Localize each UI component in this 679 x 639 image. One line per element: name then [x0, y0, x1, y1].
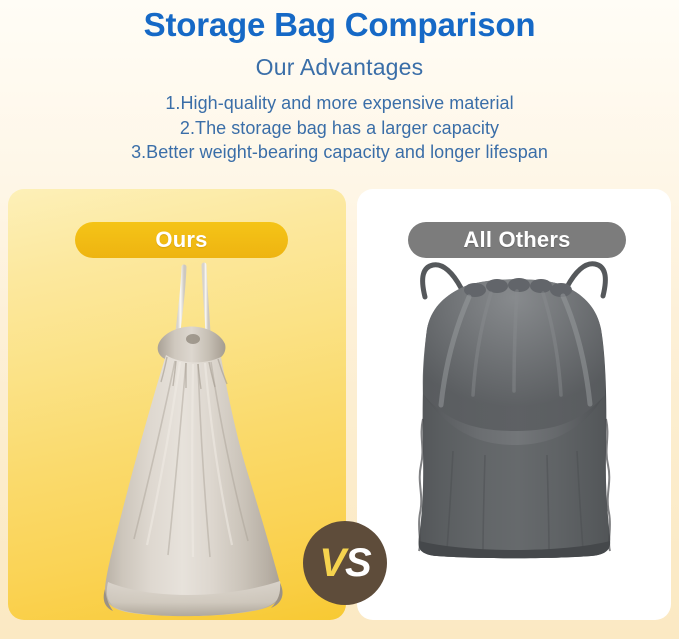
badge-ours[interactable]: Ours — [75, 222, 288, 258]
panel-all-others: All Others — [357, 189, 671, 620]
comparison-section: Ours DOREMI — [0, 189, 679, 623]
page-title: Storage Bag Comparison — [0, 2, 679, 45]
advantages-list: 1.High-quality and more expensive materi… — [0, 82, 679, 165]
vs-badge: VS — [303, 521, 387, 605]
subtitle: Our Advantages — [0, 45, 679, 82]
header-section: Storage Bag Comparison Our Advantages 1.… — [0, 0, 679, 186]
advantage-item-3: 3.Better weight-bearing capacity and lon… — [0, 140, 679, 165]
vs-letter-s: S — [345, 541, 371, 586]
advantage-item-1: 1.High-quality and more expensive materi… — [0, 91, 679, 116]
vs-letter-v: V — [319, 541, 345, 586]
advantage-item-2: 2.The storage bag has a larger capacity — [0, 116, 679, 141]
badge-all-others[interactable]: All Others — [408, 222, 626, 258]
panel-ours: Ours DOREMI — [8, 189, 346, 620]
